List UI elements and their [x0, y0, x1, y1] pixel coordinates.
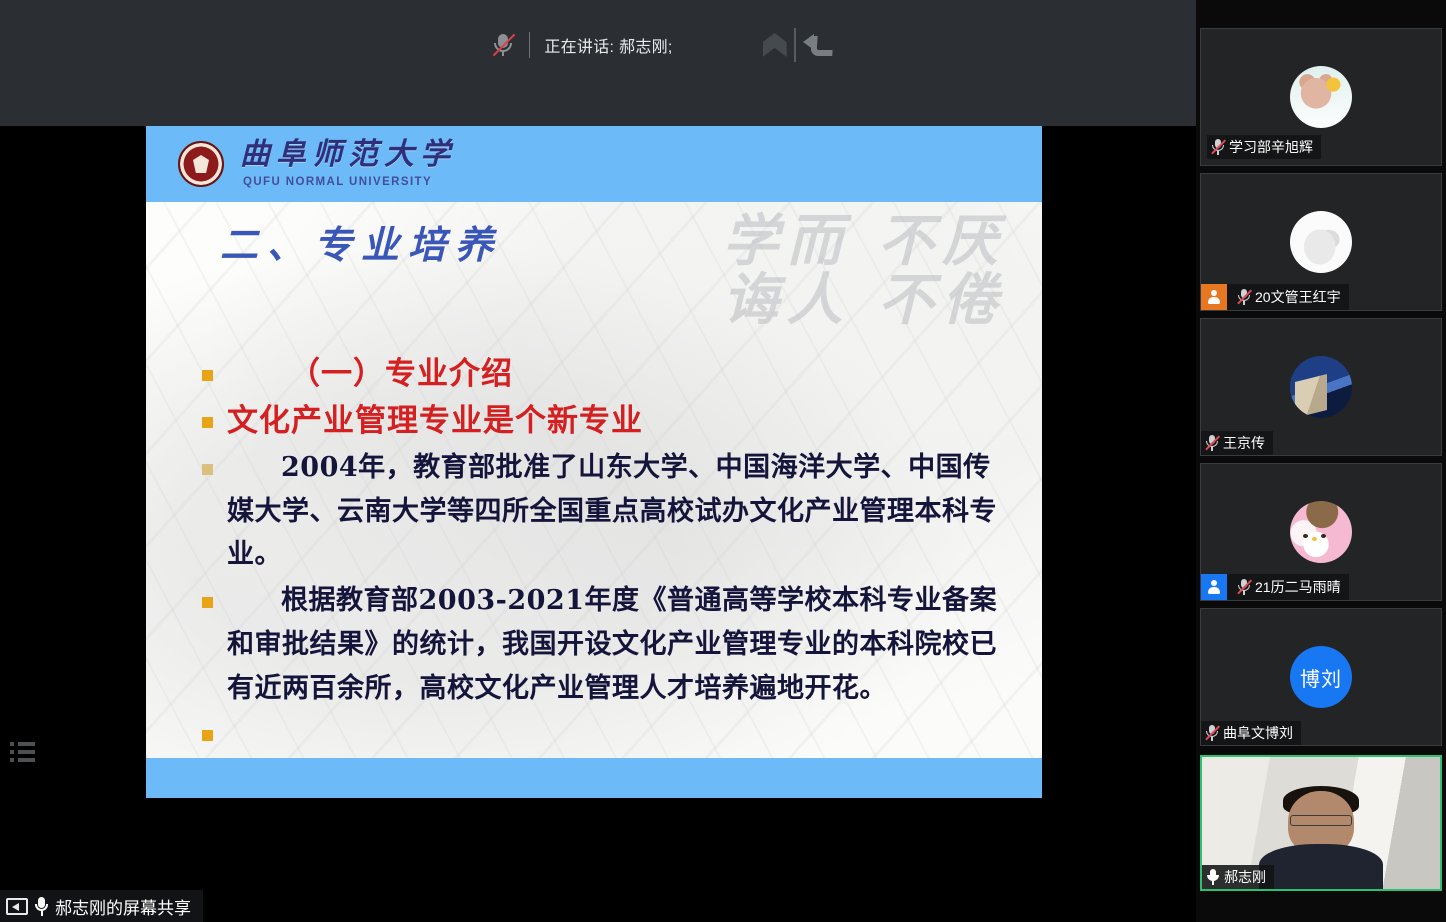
- slide-footer-banner: [146, 758, 1042, 798]
- participant-name-chip: 21历二马雨晴: [1201, 574, 1349, 600]
- participant-name-chip: 王京传: [1201, 431, 1273, 455]
- host-badge-icon: [1201, 284, 1227, 310]
- presentation-slide: 曲阜师范大学 QUFU NORMAL UNIVERSITY 学而 不厌 诲人 不…: [146, 126, 1042, 798]
- mic-on-icon: [34, 897, 49, 916]
- participant-tile-4[interactable]: 博刘 曲阜文博刘: [1200, 608, 1442, 746]
- slide-body: 学而 不厌 诲人 不倦 二、专业培养 （一）专业介绍 文化产业管理专业是个新专业…: [146, 202, 1042, 758]
- mic-muted-icon: [1237, 579, 1251, 595]
- participant-name: 20文管王红宇: [1255, 287, 1341, 307]
- bullet-square-icon: [202, 464, 213, 475]
- meeting-window: 正在讲话: 郝志刚; 曲阜师范大学 QUFU NORMAL UNIVERSITY: [0, 0, 1446, 922]
- participant-tile-5[interactable]: 郝志刚: [1200, 755, 1442, 891]
- top-bar-icon-group: [763, 28, 829, 62]
- pink-cartoon-avatar: [1290, 501, 1352, 563]
- mic-muted-icon: [1205, 435, 1219, 451]
- bullet-text: （一）专业介绍: [227, 352, 1014, 397]
- toolbar-divider: [529, 32, 530, 58]
- bullet-square-icon: [202, 597, 213, 608]
- university-name-block: 曲阜师范大学 QUFU NORMAL UNIVERSITY: [240, 140, 456, 189]
- participant-tile-2[interactable]: 王京传: [1200, 318, 1442, 456]
- white-sneaker-avatar: [1290, 211, 1352, 273]
- list-view-icon[interactable]: [10, 742, 36, 766]
- screen-share-label: 郝志刚的屏幕共享: [0, 890, 203, 922]
- slide-header-banner: 曲阜师范大学 QUFU NORMAL UNIVERSITY: [146, 126, 1042, 202]
- participant-name-chip: 曲阜文博刘: [1201, 721, 1301, 745]
- speaking-status-label: 正在讲话: 郝志刚;: [544, 33, 672, 57]
- university-seal-icon: [178, 141, 224, 187]
- mic-muted-icon: [1237, 289, 1251, 305]
- reply-arrow-icon[interactable]: [803, 33, 829, 57]
- participant-tile-0[interactable]: 学习部辛旭辉: [1200, 28, 1442, 166]
- list-item: （一）专业介绍: [202, 352, 1014, 397]
- participant-sidebar[interactable]: 学习部辛旭辉 20文管王红宇 王京传: [1196, 0, 1446, 922]
- top-status-bar: 正在讲话: 郝志刚;: [0, 0, 1196, 126]
- participant-name: 学习部辛旭辉: [1229, 137, 1313, 157]
- initials-avatar: 博刘: [1290, 646, 1352, 708]
- bullet-text: 根据教育部2003-2021年度《普通高等学校本科专业备案和审批结果》的统计，我…: [227, 579, 1014, 710]
- list-item: 2004年，教育部批准了山东大学、中国海洋大学、中国传媒大学、云南大学等四所全国…: [202, 446, 1014, 577]
- university-name-en: QUFU NORMAL UNIVERSITY: [243, 177, 456, 189]
- shared-screen-area: 正在讲话: 郝志刚; 曲阜师范大学 QUFU NORMAL UNIVERSITY: [0, 0, 1196, 922]
- list-item: 根据教育部2003-2021年度《普通高等学校本科专业备案和审批结果》的统计，我…: [202, 579, 1014, 710]
- bullet-square-icon: [202, 730, 213, 741]
- icon-separator: [794, 28, 796, 62]
- participant-name-chip: 郝志刚: [1202, 865, 1274, 889]
- university-name-cn: 曲阜师范大学: [240, 140, 456, 170]
- list-item: 文化产业管理专业是个新专业: [202, 399, 1014, 444]
- screen-share-label-text: 郝志刚的屏幕共享: [55, 894, 191, 919]
- participant-name: 王京传: [1223, 433, 1265, 453]
- bullet-text: 文化产业管理专业是个新专业: [227, 399, 1014, 444]
- mic-muted-icon: [1211, 139, 1225, 155]
- participant-tile-1[interactable]: 20文管王红宇: [1200, 173, 1442, 311]
- chevron-collapse-icon[interactable]: [763, 33, 787, 57]
- slide-title: 二、专业培养: [220, 214, 502, 269]
- bear-illustration-avatar: [1290, 66, 1352, 128]
- top-status-inner: 正在讲话: 郝志刚;: [491, 28, 828, 62]
- slide-watermark-quote: 学而 不厌 诲人 不倦: [706, 212, 1006, 330]
- participant-badge-icon: [1201, 574, 1227, 600]
- participant-name-chip: 学习部辛旭辉: [1207, 135, 1321, 159]
- screen-share-icon: [6, 898, 28, 915]
- mic-muted-icon[interactable]: [491, 32, 515, 58]
- mic-on-icon: [1206, 869, 1220, 885]
- list-item: [202, 712, 1014, 741]
- building-photo-avatar: [1290, 356, 1352, 418]
- bullet-square-icon: [202, 370, 213, 381]
- slide-bullet-list: （一）专业介绍 文化产业管理专业是个新专业 2004年，教育部批准了山东大学、中…: [202, 352, 1014, 743]
- participant-name: 郝志刚: [1224, 867, 1266, 887]
- participant-name-chip: 20文管王红宇: [1201, 284, 1349, 310]
- mic-muted-icon: [1205, 725, 1219, 741]
- participant-name: 曲阜文博刘: [1223, 723, 1293, 743]
- bullet-text: 2004年，教育部批准了山东大学、中国海洋大学、中国传媒大学、云南大学等四所全国…: [227, 446, 1014, 577]
- bullet-square-icon: [202, 417, 213, 428]
- participant-name: 21历二马雨晴: [1255, 577, 1341, 597]
- participant-tile-3[interactable]: 21历二马雨晴: [1200, 463, 1442, 601]
